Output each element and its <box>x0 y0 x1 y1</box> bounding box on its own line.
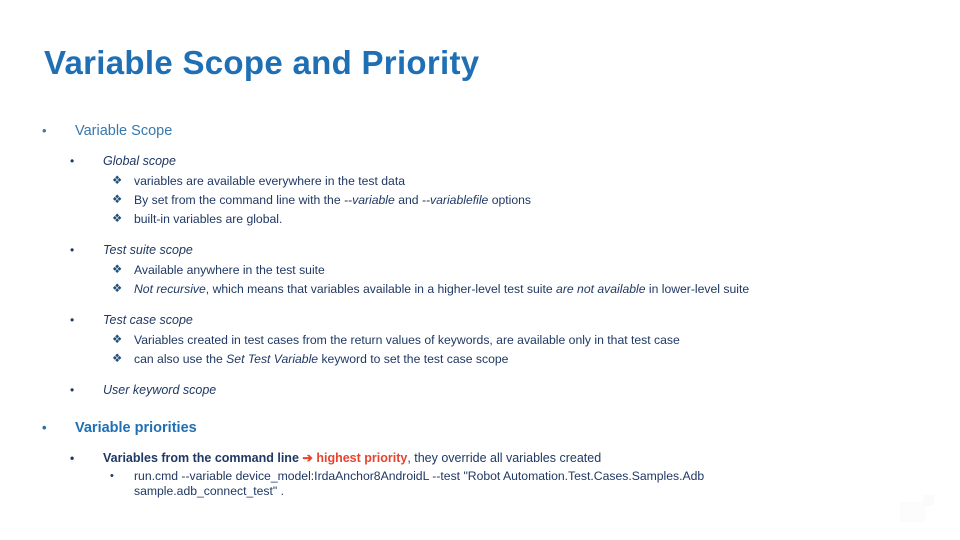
bullet-label: User keyword scope <box>103 380 216 400</box>
bullet-global-item: ❖ built-in variables are global. <box>0 210 960 229</box>
corner-watermark <box>900 502 926 522</box>
bullet-label: Test suite scope <box>103 240 193 260</box>
text-mid: keyword to set the test case scope <box>318 352 508 366</box>
spacer <box>0 229 960 240</box>
diamond-bullet-icon: ❖ <box>112 280 122 299</box>
text-post: in lower-level suite <box>645 282 749 296</box>
bullet-text: Variables created in test cases from the… <box>134 331 680 350</box>
bullet-test-suite-item: ❖ Not recursive, which means that variab… <box>0 280 960 299</box>
bullet-dot-icon: • <box>70 380 74 400</box>
diamond-bullet-icon: ❖ <box>112 172 122 191</box>
page-title: Variable Scope and Priority <box>44 42 479 84</box>
diamond-bullet-icon: ❖ <box>112 261 122 280</box>
text-emphasis: Set Test Variable <box>226 352 318 366</box>
text-emphasis: --variable <box>344 193 395 207</box>
spacer <box>0 401 960 417</box>
text-rest: , they override all variables created <box>407 451 601 465</box>
bullet-dot-icon: • <box>42 120 47 142</box>
bullet-global-item: ❖ By set from the command line with the … <box>0 191 960 210</box>
spacer <box>0 299 960 310</box>
arrow-right-icon: ➔ <box>302 451 312 465</box>
diamond-bullet-icon: ❖ <box>112 210 122 229</box>
slide-canvas: Variable Scope and Priority • Variable S… <box>0 0 960 540</box>
bullet-text: Variables from the command line ➔ highes… <box>103 448 601 468</box>
bullet-global-scope: • Global scope <box>0 151 960 172</box>
bullet-label: Global scope <box>103 151 176 171</box>
text-pre: By set from the command line with the <box>134 193 344 207</box>
text-emphasis: are not available <box>556 282 645 296</box>
text-highlight: highest priority <box>313 451 407 465</box>
slide-body: • Variable Scope • Global scope ❖ variab… <box>0 120 960 499</box>
bullet-global-item: ❖ variables are available everywhere in … <box>0 172 960 191</box>
bullet-command-example: • run.cmd --variable device_model:IrdaAn… <box>0 469 960 499</box>
bullet-text: built-in variables are global. <box>134 210 282 229</box>
text-emphasis: --variablefile <box>422 193 488 207</box>
spacer <box>0 441 960 448</box>
bullet-text: can also use the Set Test Variable keywo… <box>134 350 508 369</box>
diamond-bullet-icon: ❖ <box>112 331 122 350</box>
bullet-test-case-scope: • Test case scope <box>0 310 960 331</box>
bullet-test-suite-item: ❖ Available anywhere in the test suite <box>0 261 960 280</box>
bullet-test-case-item: ❖ Variables created in test cases from t… <box>0 331 960 350</box>
bullet-label: Variable priorities <box>75 417 197 439</box>
text-mid: and <box>395 193 422 207</box>
bullet-text: variables are available everywhere in th… <box>134 172 405 191</box>
diamond-bullet-icon: ❖ <box>112 191 122 210</box>
bullet-dot-icon: • <box>110 469 114 484</box>
bullet-text: By set from the command line with the --… <box>134 191 531 210</box>
bullet-text: Available anywhere in the test suite <box>134 261 325 280</box>
bullet-test-suite-scope: • Test suite scope <box>0 240 960 261</box>
diamond-bullet-icon: ❖ <box>112 350 122 369</box>
text-emphasis: Not recursive <box>134 282 206 296</box>
bullet-dot-icon: • <box>42 417 47 439</box>
text-mid: , which means that variables available i… <box>206 282 556 296</box>
bullet-label: Test case scope <box>103 310 193 330</box>
bullet-variable-priorities: • Variable priorities <box>0 417 960 441</box>
bullet-text: Not recursive, which means that variable… <box>134 280 749 299</box>
bullet-dot-icon: • <box>70 448 74 468</box>
bullet-user-keyword-scope: • User keyword scope <box>0 380 960 401</box>
spacer <box>0 144 960 151</box>
command-example-text: run.cmd --variable device_model:IrdaAnch… <box>134 469 834 499</box>
spacer <box>0 369 960 380</box>
bullet-command-line-priority: • Variables from the command line ➔ high… <box>0 448 960 469</box>
bullet-dot-icon: • <box>70 240 74 260</box>
bullet-dot-icon: • <box>70 310 74 330</box>
text-bold-lead: Variables from the command line <box>103 451 302 465</box>
text-post: options <box>488 193 531 207</box>
bullet-label: Variable Scope <box>75 120 172 142</box>
bullet-variable-scope: • Variable Scope <box>0 120 960 144</box>
bullet-dot-icon: • <box>70 151 74 171</box>
bullet-test-case-item: ❖ can also use the Set Test Variable key… <box>0 350 960 369</box>
text-pre: can also use the <box>134 352 226 366</box>
